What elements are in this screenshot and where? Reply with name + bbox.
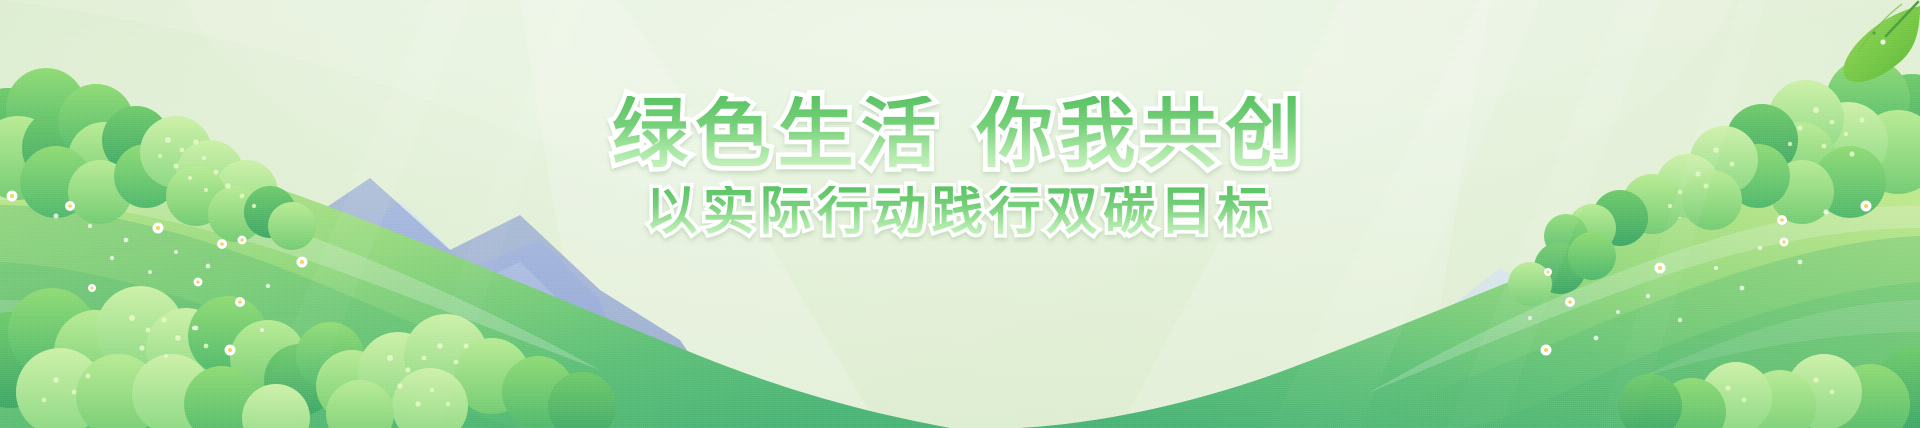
banner-subline: 以实际行动践行双碳目标: [645, 186, 1274, 238]
banner-text-block: 绿色生活 你我共创 绿色生活 你我共创 以实际行动践行双碳目标 以实际行动践行双…: [0, 96, 1920, 238]
leaf-sprig-icon: [1843, 2, 1920, 82]
subline-wrap: 以实际行动践行双碳目标 以实际行动践行双碳目标: [645, 186, 1274, 238]
eco-campaign-banner: 绿色生活 你我共创 绿色生活 你我共创 以实际行动践行双碳目标 以实际行动践行双…: [0, 0, 1920, 428]
headline-wrap: 绿色生活 你我共创 绿色生活 你我共创: [612, 96, 1308, 172]
banner-headline: 绿色生活 你我共创: [612, 96, 1308, 172]
